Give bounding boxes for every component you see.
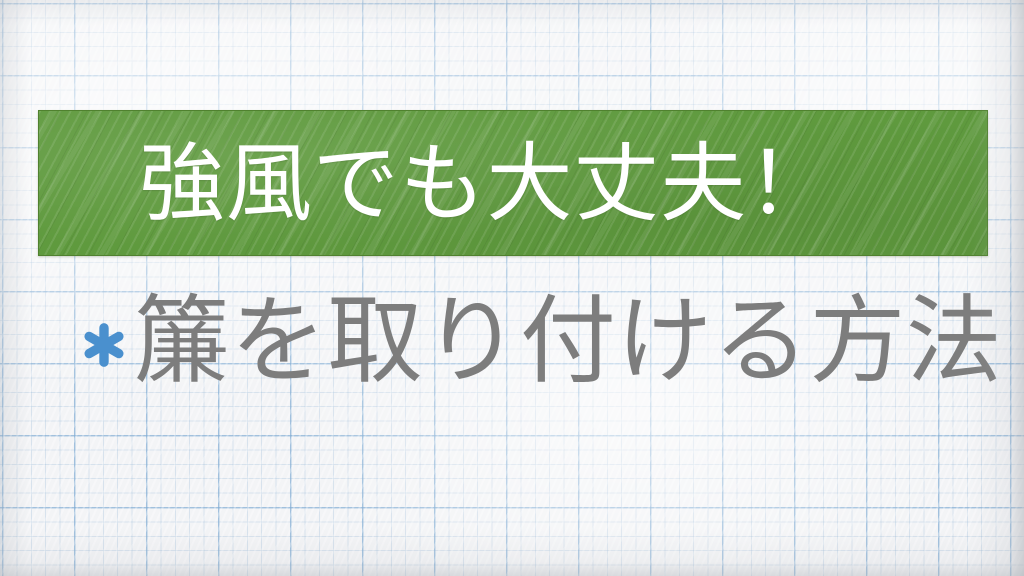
- title-card-slide: 強風でも大丈夫！ 簾を取り付ける方法: [0, 0, 1024, 576]
- subtitle-row: 簾を取り付ける方法: [78, 282, 978, 402]
- banner-title-text: 強風でも大丈夫！: [139, 111, 834, 256]
- asterisk-icon: [78, 319, 130, 371]
- headline-banner: 強風でも大丈夫！: [38, 110, 988, 256]
- subtitle-text: 簾を取り付ける方法: [134, 294, 1002, 390]
